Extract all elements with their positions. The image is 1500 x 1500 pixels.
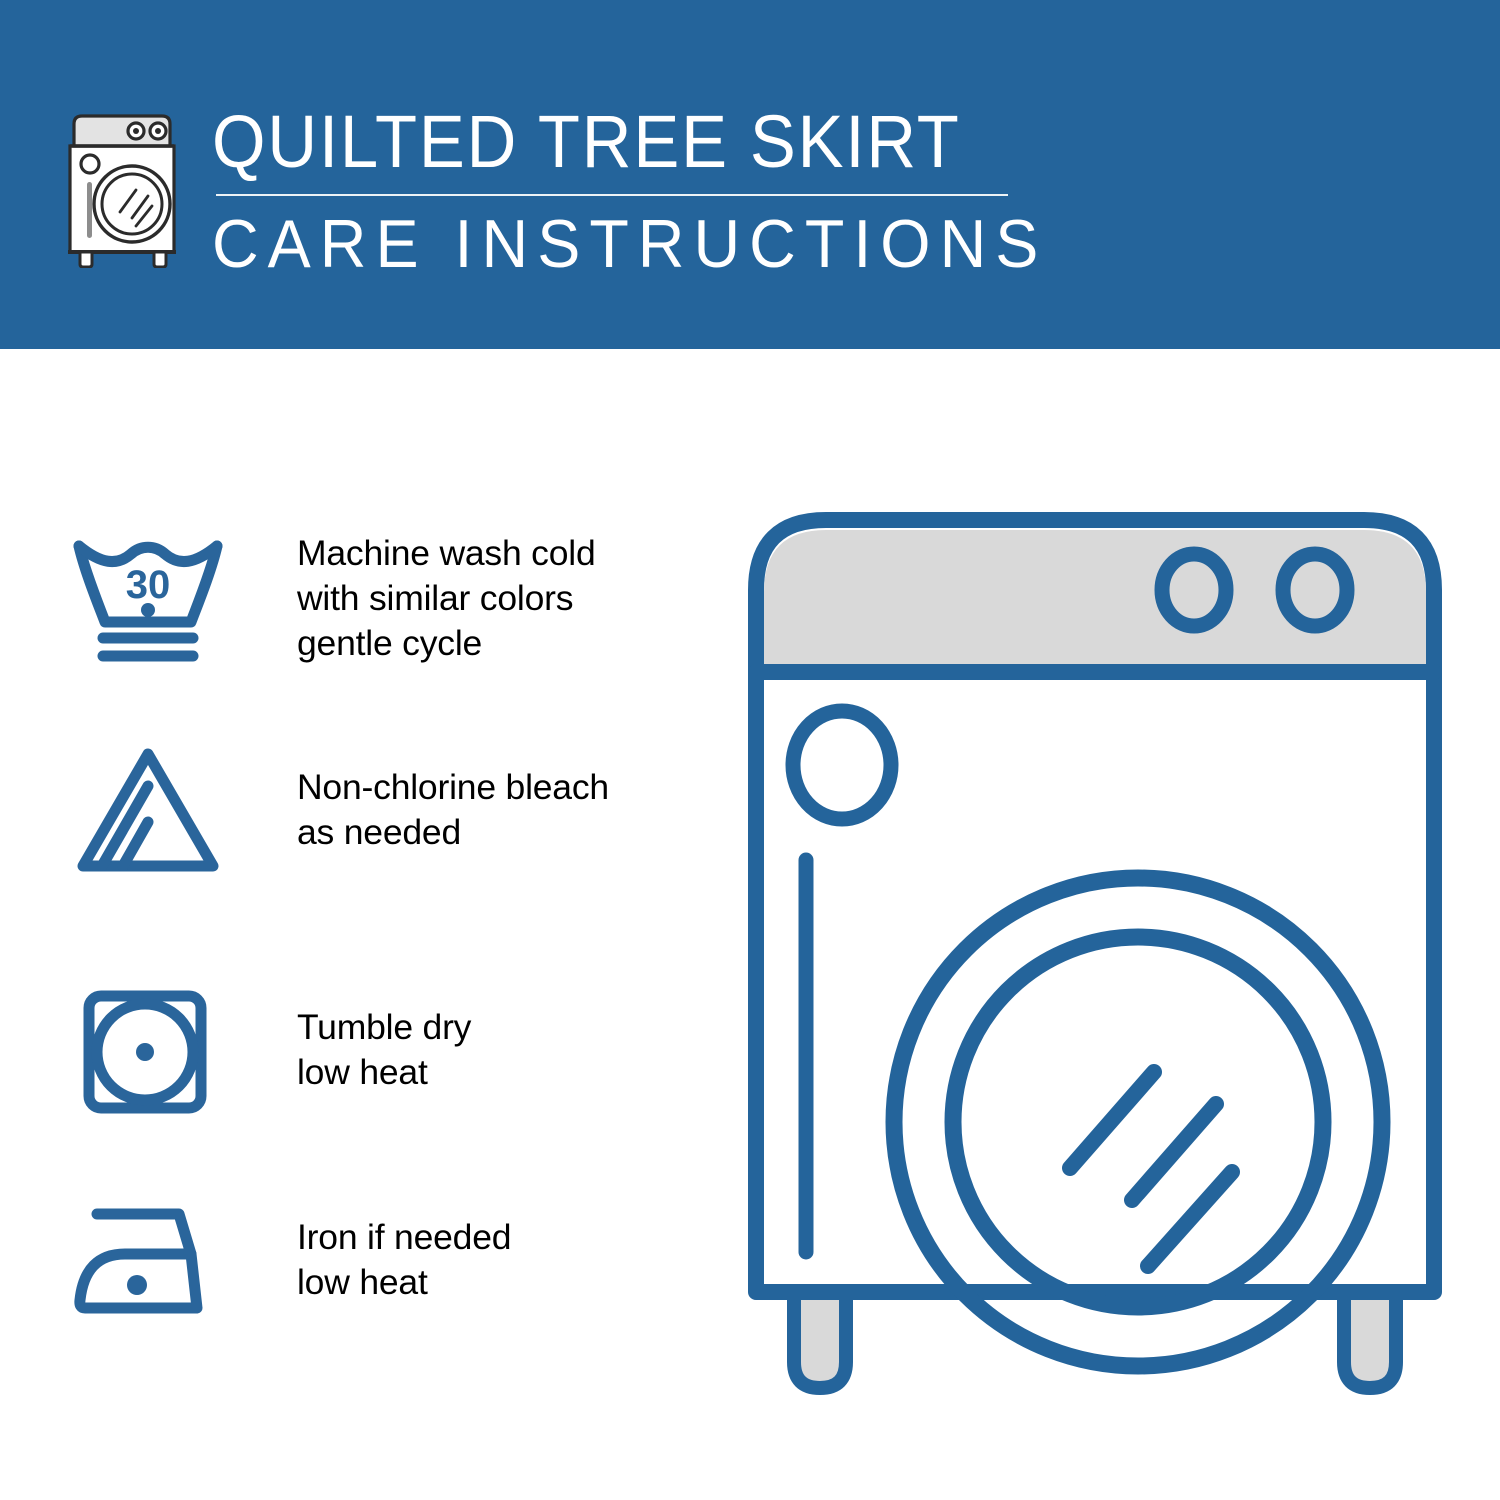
iron-low-heat-icon bbox=[60, 1190, 235, 1330]
care-instructions-page: QUILTED TREE SKIRT CARE INSTRUCTIONS bbox=[0, 0, 1500, 1500]
page-title: QUILTED TREE SKIRT bbox=[212, 100, 1030, 184]
care-label-line: with similar colors bbox=[297, 576, 596, 621]
title-divider bbox=[216, 194, 1008, 196]
care-row-iron: Iron if needed low heat bbox=[60, 1180, 720, 1340]
care-label-line: low heat bbox=[297, 1260, 511, 1305]
care-label-machine-wash: Machine wash cold with similar colors ge… bbox=[297, 531, 596, 666]
care-row-bleach: Non-chlorine bleach as needed bbox=[60, 730, 720, 890]
care-label-line: gentle cycle bbox=[297, 621, 596, 666]
non-chlorine-bleach-triangle-icon bbox=[60, 740, 235, 880]
care-label-tumble-dry: Tumble dry low heat bbox=[297, 1005, 471, 1095]
care-label-line: Non-chlorine bleach bbox=[297, 765, 609, 810]
care-label-line: Tumble dry bbox=[297, 1005, 471, 1050]
header-content: QUILTED TREE SKIRT CARE INSTRUCTIONS bbox=[62, 100, 1091, 282]
care-label-line: Iron if needed bbox=[297, 1215, 511, 1260]
front-load-washing-machine-illustration bbox=[742, 500, 1448, 1412]
tumble-dry-low-heat-icon bbox=[60, 980, 235, 1120]
care-label-bleach: Non-chlorine bleach as needed bbox=[297, 765, 609, 855]
header-title-block: QUILTED TREE SKIRT CARE INSTRUCTIONS bbox=[212, 100, 1091, 282]
care-row-machine-wash: 30 Machine wash cold with similar colors… bbox=[60, 508, 720, 688]
header-banner: QUILTED TREE SKIRT CARE INSTRUCTIONS bbox=[0, 0, 1500, 349]
machine-leg-left bbox=[794, 1292, 846, 1388]
wash-tub-30-gentle-icon: 30 bbox=[60, 528, 235, 668]
care-label-iron: Iron if needed low heat bbox=[297, 1215, 511, 1305]
care-label-line: low heat bbox=[297, 1050, 471, 1095]
page-subtitle: CARE INSTRUCTIONS bbox=[212, 206, 1047, 282]
wash-temperature-value: 30 bbox=[125, 563, 170, 607]
washing-machine-logo-icon bbox=[62, 106, 190, 268]
care-label-line: as needed bbox=[297, 810, 609, 855]
machine-leg-right bbox=[1344, 1292, 1396, 1388]
care-label-line: Machine wash cold bbox=[297, 531, 596, 576]
care-row-tumble-dry: Tumble dry low heat bbox=[60, 970, 720, 1130]
